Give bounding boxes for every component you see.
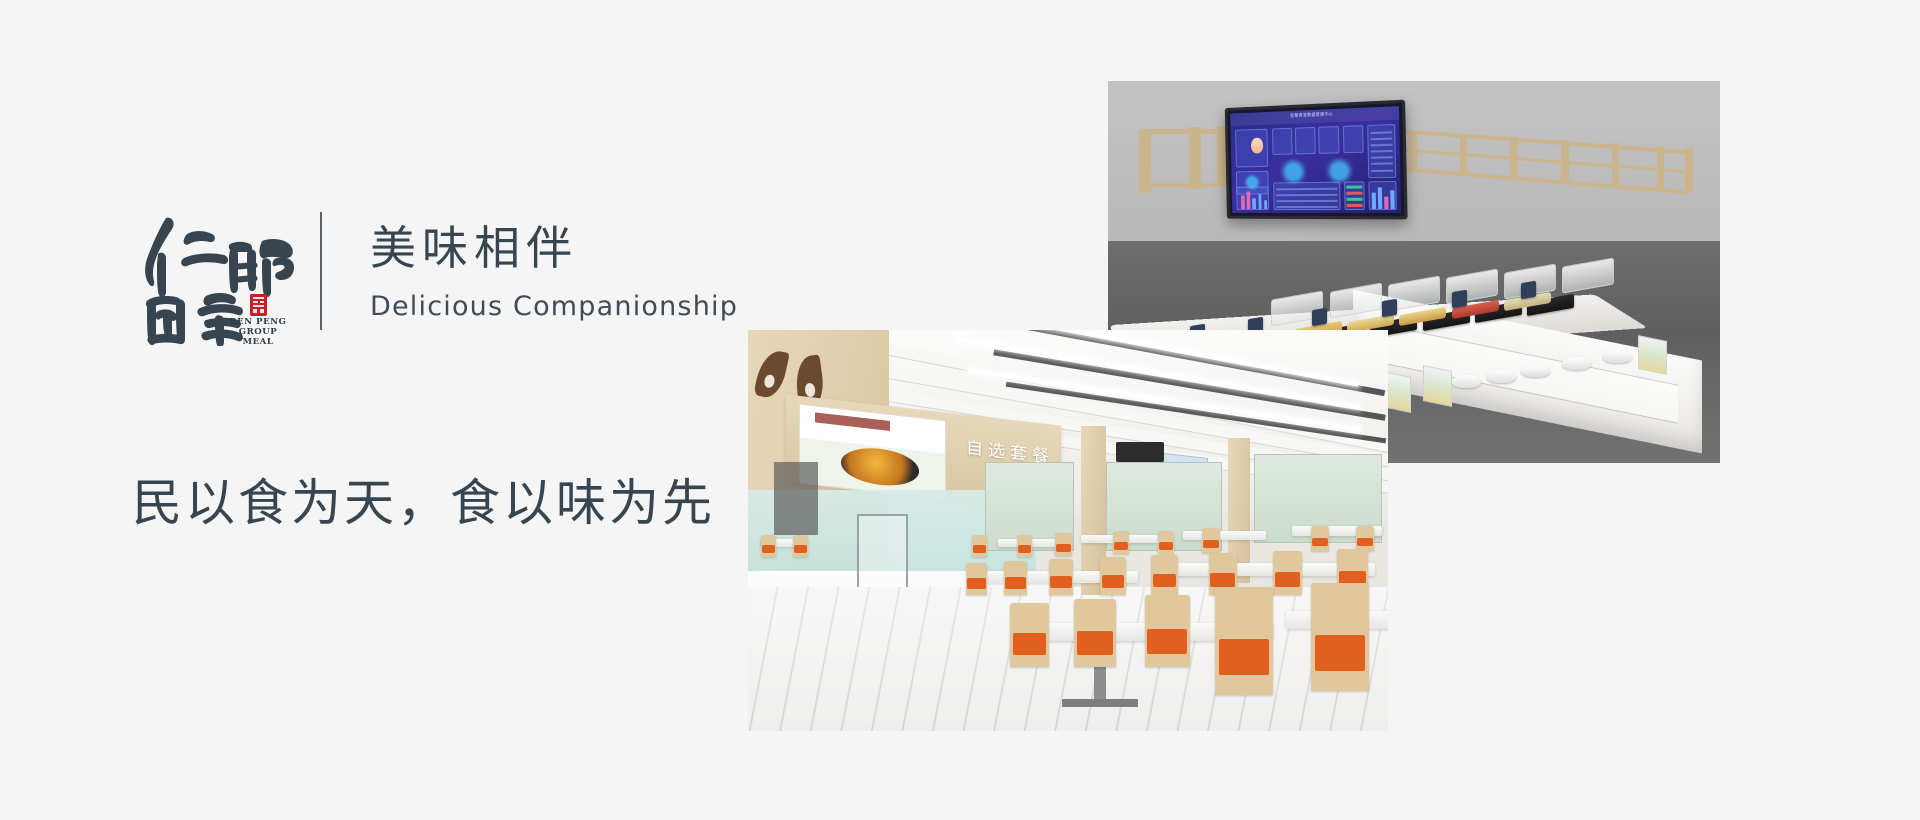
dining-chair — [1145, 595, 1190, 667]
dining-chair — [1113, 531, 1130, 554]
menu-lightbox — [799, 404, 946, 501]
stacked-bowls — [1452, 375, 1481, 388]
dining-chair — [1215, 587, 1273, 695]
dining-chair — [1017, 535, 1032, 557]
dashboard-kpi-1 — [1272, 128, 1292, 155]
logo-en-line-1: REN PENG — [230, 317, 287, 327]
dining-chair — [1049, 559, 1073, 595]
dining-chair — [1158, 531, 1175, 554]
logo-en-line-3: MEAL — [243, 337, 274, 346]
dining-chair — [1010, 603, 1048, 667]
dining-chair — [793, 535, 808, 557]
dining-chair — [1356, 526, 1374, 550]
canteen-floor — [748, 587, 1388, 731]
order-screen — [1312, 308, 1327, 327]
wall-tv-panel — [1116, 442, 1164, 462]
dining-chair — [1273, 551, 1302, 595]
marketing-banner: REN PENG GROUP MEAL 美味相伴 Delicious Compa… — [0, 0, 1920, 820]
dish-photo — [841, 445, 919, 490]
red-seal-stamp — [250, 294, 267, 316]
dining-chair — [1074, 599, 1116, 667]
table-base — [1062, 699, 1139, 707]
dashboard-screen: 智慧食堂数据管理中心 — [1230, 106, 1401, 213]
dining-chair — [1055, 533, 1072, 556]
shelving-unit — [774, 462, 819, 534]
stacked-bowls — [1562, 357, 1591, 370]
logo-en-line-2: GROUP — [239, 327, 278, 337]
dining-table — [1183, 531, 1266, 540]
brand-row: REN PENG GROUP MEAL 美味相伴 Delicious Compa… — [132, 196, 738, 346]
headline-chinese: 美味相伴 — [370, 220, 738, 278]
dashboard-title: 智慧食堂数据管理中心 — [1290, 111, 1333, 119]
dining-chair — [1004, 561, 1027, 595]
ceiling-frame-structure — [1139, 115, 1702, 214]
dining-chair — [1100, 557, 1126, 595]
order-screen — [1521, 281, 1536, 300]
stacked-bowls — [1487, 370, 1516, 383]
dashboard-kpi-3 — [1318, 126, 1339, 153]
dining-chair — [761, 535, 776, 557]
dining-chair — [1311, 526, 1329, 550]
stacked-bowls — [1521, 365, 1550, 378]
dashboard-kpi-2 — [1295, 127, 1316, 154]
order-screen — [1382, 299, 1397, 318]
dashboard-header: 智慧食堂数据管理中心 — [1230, 106, 1399, 126]
dining-chair — [966, 563, 988, 595]
dining-chair — [1151, 555, 1178, 595]
canteen-interior-photo: 自选套餐 — [748, 330, 1388, 731]
stacked-bowls — [1603, 350, 1632, 363]
tagline-text: 民以食为天，食以味为先 — [132, 463, 715, 535]
dashboard-monitor: 智慧食堂数据管理中心 — [1225, 100, 1408, 219]
dining-chair — [1202, 528, 1220, 552]
avatar — [1251, 137, 1263, 153]
counter-poster — [1423, 365, 1452, 407]
ren-peng-group-meal-logo: REN PENG GROUP MEAL — [132, 196, 298, 346]
dining-chair — [1311, 583, 1369, 691]
counter-poster — [1638, 335, 1667, 375]
logo-calligraphy-svg: REN PENG GROUP MEAL — [132, 196, 298, 346]
sneeze-guard — [1562, 258, 1614, 294]
brand-divider — [320, 212, 322, 330]
headline-english: Delicious Companionship — [370, 291, 738, 322]
headline-block: 美味相伴 Delicious Companionship — [370, 220, 738, 323]
menu-title-bar — [815, 413, 890, 431]
dashboard-kpi-4 — [1342, 125, 1363, 153]
order-screen — [1452, 290, 1467, 309]
dining-chair — [972, 535, 987, 557]
